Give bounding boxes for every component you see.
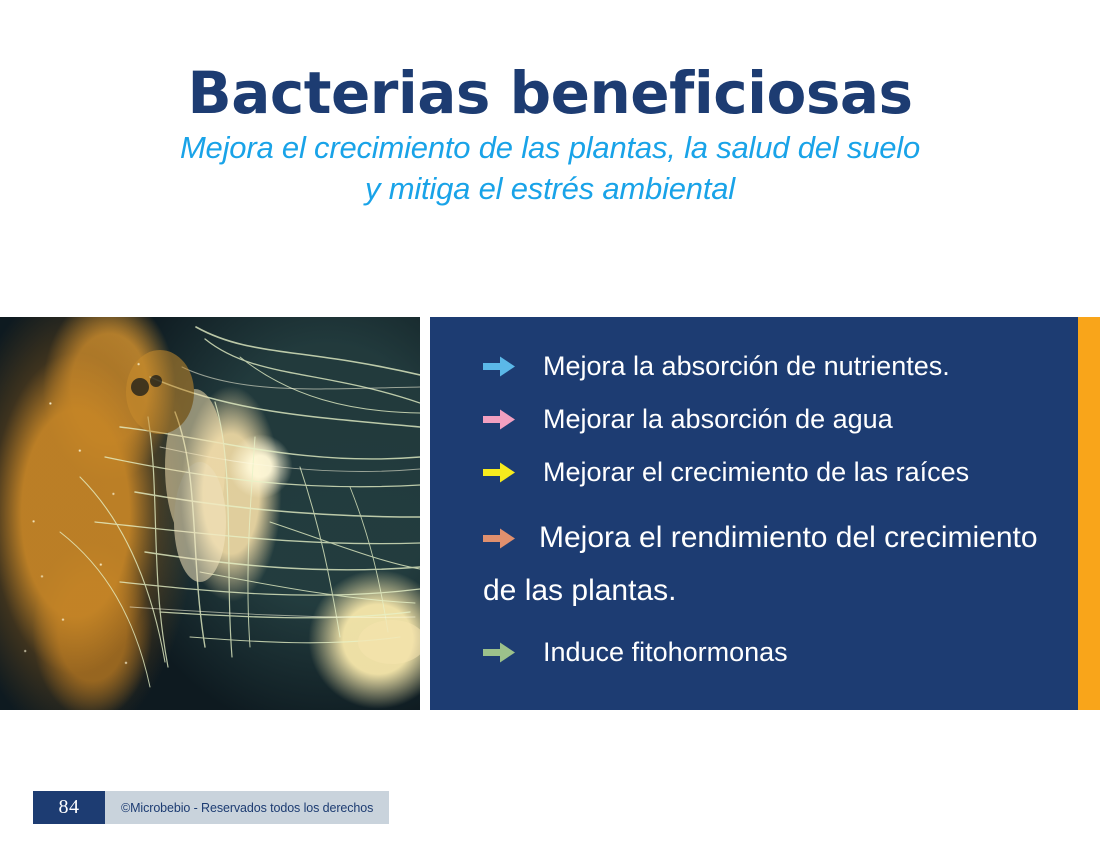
bullet-list: Mejora la absorción de nutrientes. Mejor… (430, 317, 1078, 666)
arrow-right-icon (483, 528, 515, 549)
page-number: 84 (33, 791, 105, 824)
bullet-panel: Mejora la absorción de nutrientes. Mejor… (430, 317, 1078, 710)
list-item: Mejorar la absorción de agua (483, 406, 1062, 433)
slide-subtitle: Mejora el crecimiento de las plantas, la… (0, 128, 1100, 210)
subtitle-line-2: y mitiga el estrés ambiental (0, 169, 1100, 210)
list-item-label: Induce fitohormonas (543, 637, 788, 667)
title-block: Bacterias beneficiosas Mejora el crecimi… (0, 64, 1100, 210)
list-item-label: Mejora el rendimiento del crecimiento de… (483, 521, 1038, 607)
photo-speckles (0, 317, 420, 710)
list-item: Mejora la absorción de nutrientes. (483, 353, 1062, 380)
accent-bar (1078, 317, 1100, 710)
list-item-label: Mejorar el crecimiento de las raíces (543, 457, 969, 487)
footer: 84 ©Microbebio - Reservados todos los de… (33, 791, 389, 824)
list-item-label: Mejorar la absorción de agua (543, 404, 893, 434)
copyright-notice: ©Microbebio - Reservados todos los derec… (105, 791, 389, 824)
list-item: Mejorar el crecimiento de las raíces (483, 459, 1062, 486)
list-item: Mejora el rendimiento del crecimiento de… (483, 512, 1062, 617)
subtitle-line-1: Mejora el crecimiento de las plantas, la… (0, 128, 1100, 169)
arrow-right-icon (483, 356, 515, 377)
list-item: Induce fitohormonas (483, 639, 1062, 666)
list-item-label: Mejora la absorción de nutrientes. (543, 351, 950, 381)
microscopy-photo (0, 317, 420, 710)
arrow-right-icon (483, 642, 515, 663)
arrow-right-icon (483, 409, 515, 430)
slide-canvas: Bacterias beneficiosas Mejora el crecimi… (0, 0, 1100, 850)
page-title: Bacterias beneficiosas (0, 64, 1100, 122)
arrow-right-icon (483, 462, 515, 483)
